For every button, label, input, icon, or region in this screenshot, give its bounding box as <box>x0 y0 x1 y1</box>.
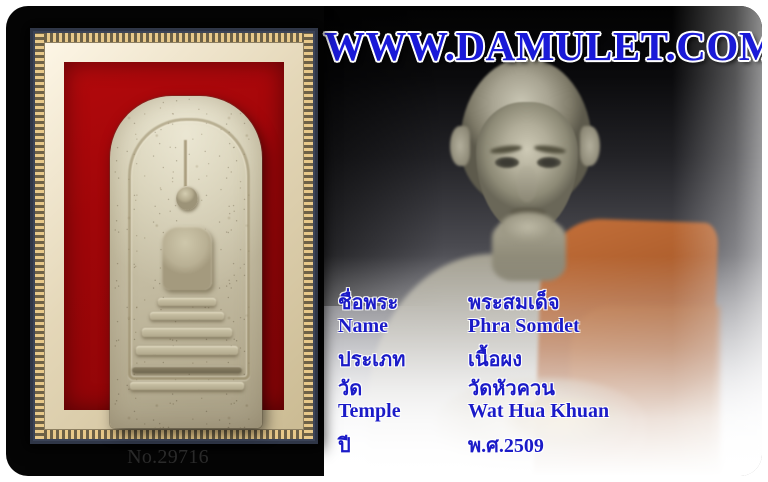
monk-eye-right <box>537 157 561 168</box>
spec-value: พระสมเด็จ <box>468 286 560 318</box>
amulet-buddha-body <box>162 226 212 290</box>
amulet-card: WWW.DAMULET.COM ชื่อพระ พระสมเด็จ Name P… <box>6 6 762 476</box>
spec-row-temple-en: Temple Wat Hua Khuan <box>338 400 738 429</box>
monk-ear-right <box>580 126 600 166</box>
spec-value: Phra Somdet <box>468 315 580 338</box>
spec-label: ประเภท <box>338 343 468 375</box>
monk-ear-left <box>450 126 470 166</box>
spec-label: วัด <box>338 372 468 404</box>
spec-row-name-th: ชื่อพระ พระสมเด็จ <box>338 286 738 315</box>
spec-row-year: ปี พ.ศ.2509 <box>338 429 738 458</box>
amulet-base-step <box>142 328 232 337</box>
monk-chin <box>500 212 556 242</box>
spec-value: พ.ศ.2509 <box>468 429 544 461</box>
amulet-base-step <box>150 312 224 320</box>
screenshot-root: WWW.DAMULET.COM ชื่อพระ พระสมเด็จ Name P… <box>0 0 768 482</box>
spec-row-name-en: Name Phra Somdet <box>338 315 738 344</box>
spec-label: Name <box>338 315 468 338</box>
spec-row-temple-th: วัด วัดหัวควน <box>338 372 738 401</box>
spec-label: ปี <box>338 429 468 461</box>
amulet-image[interactable] <box>110 96 262 428</box>
amulet-buddha-head <box>176 186 198 210</box>
frame-red-mat <box>64 62 284 410</box>
spec-value: เนื้อผง <box>468 343 522 375</box>
monk-nose <box>517 166 537 202</box>
site-title[interactable]: WWW.DAMULET.COM <box>336 22 762 70</box>
amulet-base-step <box>130 382 244 390</box>
frame-ivory-bevel <box>44 42 304 430</box>
monk-eye-left <box>495 157 519 168</box>
spec-value: วัดหัวควน <box>468 372 555 404</box>
amulet-base-step <box>132 366 242 373</box>
spec-label: Temple <box>338 400 468 423</box>
amulet-base-step <box>136 346 238 355</box>
amulet-picture-frame <box>30 28 318 444</box>
amulet-spec-list: ชื่อพระ พระสมเด็จ Name Phra Somdet ประเภ… <box>338 286 738 458</box>
amulet-usnisa-spike <box>184 140 187 188</box>
amulet-base-step <box>158 298 216 306</box>
spec-row-type-th: ประเภท เนื้อผง <box>338 343 738 372</box>
item-number-caption: No.29716 <box>24 446 312 469</box>
spec-label: ชื่อพระ <box>338 286 468 318</box>
spec-value: Wat Hua Khuan <box>468 400 609 423</box>
